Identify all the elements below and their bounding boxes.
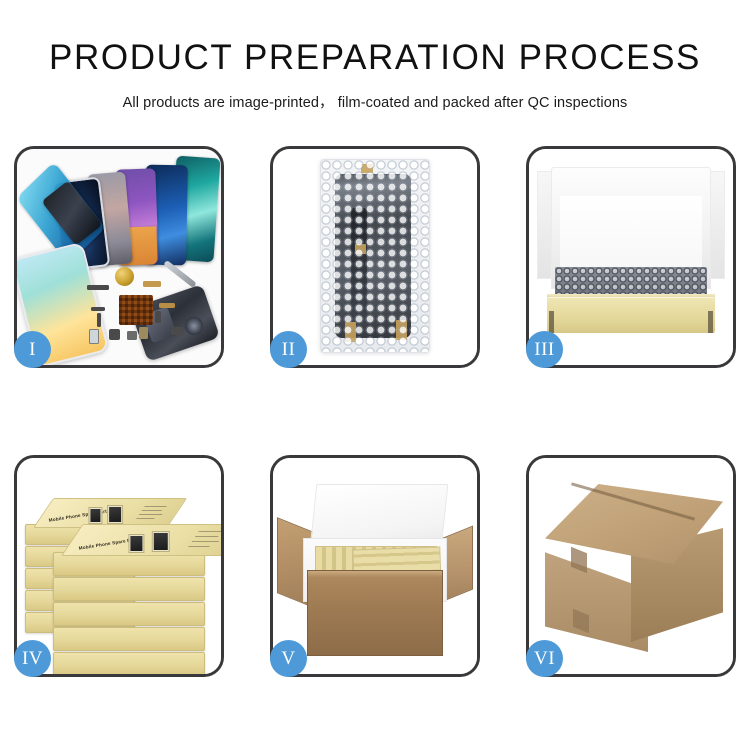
part-strip-4 (155, 311, 161, 323)
part-strip-3 (97, 313, 101, 327)
box-window-f2 (152, 531, 170, 552)
tape-mark-middle (355, 244, 366, 254)
box-front-panel (547, 297, 715, 333)
bubble-bag-icon (320, 159, 430, 353)
part-strip-2 (91, 307, 105, 311)
step-badge-6: VI (526, 640, 563, 677)
kraft-inner-box-icon (541, 167, 721, 335)
sim-tray-icon (89, 329, 99, 344)
step-panel-2[interactable]: II (270, 146, 480, 368)
part-strip-1 (87, 285, 109, 290)
step-panel-3[interactable]: III (526, 146, 736, 368)
step-panel-1[interactable]: I (14, 146, 224, 368)
speaker-module-icon (115, 267, 134, 286)
step-badge-3: III (526, 331, 563, 368)
carton-body (307, 570, 443, 656)
step-badge-5: V (270, 640, 307, 677)
page-title: PRODUCT PREPARATION PROCESS (0, 40, 750, 77)
product-assortment-illustration (17, 149, 221, 365)
spare-parts-group (87, 267, 197, 359)
page-subtitle: All products are image-printed， film-coa… (0, 77, 750, 112)
flex-cable-icon (159, 303, 175, 308)
page-header: PRODUCT PREPARATION PROCESS All products… (0, 0, 750, 112)
step-image-1 (17, 149, 221, 365)
bubble-wrapping-illustration (273, 149, 477, 365)
box-specline-f4 (188, 546, 209, 547)
box-specline-f1 (199, 531, 221, 532)
stacked-box-f5 (53, 652, 205, 674)
tape-mark-bottom-left (345, 322, 356, 342)
stacked-box-f3 (53, 602, 205, 626)
box-specline-f3 (192, 541, 219, 542)
box-specline-r4 (136, 518, 154, 519)
stacked-box-f-top-face: Mobile Phone Spare Parts (61, 524, 221, 556)
open-carton-icon (279, 480, 471, 660)
box-window-r1 (88, 507, 102, 524)
wrapped-flex-strip (351, 208, 367, 320)
tape-mark-bottom-right (396, 320, 407, 340)
step-badge-1: I (14, 331, 51, 368)
tape-mark-top (361, 164, 373, 173)
box-stack-group: Mobile Phone Spare Parts (25, 484, 213, 664)
logic-board-icon (119, 295, 153, 325)
inner-box-illustration (529, 149, 733, 365)
process-steps-grid: I II (14, 146, 736, 677)
step-panel-5[interactable]: V (270, 455, 480, 677)
sealed-carton-illustration (529, 458, 733, 674)
part-strip-5 (171, 327, 183, 335)
box-specline-f2 (195, 536, 218, 537)
step-image-2 (273, 149, 477, 365)
stacked-box-f2 (53, 577, 205, 601)
box-stack-illustration: Mobile Phone Spare Parts (17, 458, 221, 674)
vibrator-motor-icon (109, 329, 120, 340)
step-badge-2: II (270, 331, 307, 368)
foam-carton-illustration (273, 458, 477, 674)
step-image-4: Mobile Phone Spare Parts (17, 458, 221, 674)
box-specline-r2 (142, 510, 162, 511)
step-panel-4[interactable]: Mobile Phone Spare Parts (14, 455, 224, 677)
box-specline-r1 (145, 506, 167, 507)
stacked-box-f4 (53, 627, 205, 651)
box-window-r2 (107, 505, 123, 524)
step-image-6 (529, 458, 733, 674)
sealed-carton-icon (539, 484, 723, 652)
connector-icon (139, 327, 148, 339)
part-strip-gold (143, 281, 161, 287)
box-window-f1 (128, 534, 144, 553)
box-specline-r3 (139, 514, 162, 515)
step-image-5 (273, 458, 477, 674)
step-panel-6[interactable]: VI (526, 455, 736, 677)
step-image-3 (529, 149, 733, 365)
wrapped-screen-part (335, 174, 411, 338)
step-badge-4: IV (14, 640, 51, 677)
camera-module-icon (127, 331, 137, 340)
